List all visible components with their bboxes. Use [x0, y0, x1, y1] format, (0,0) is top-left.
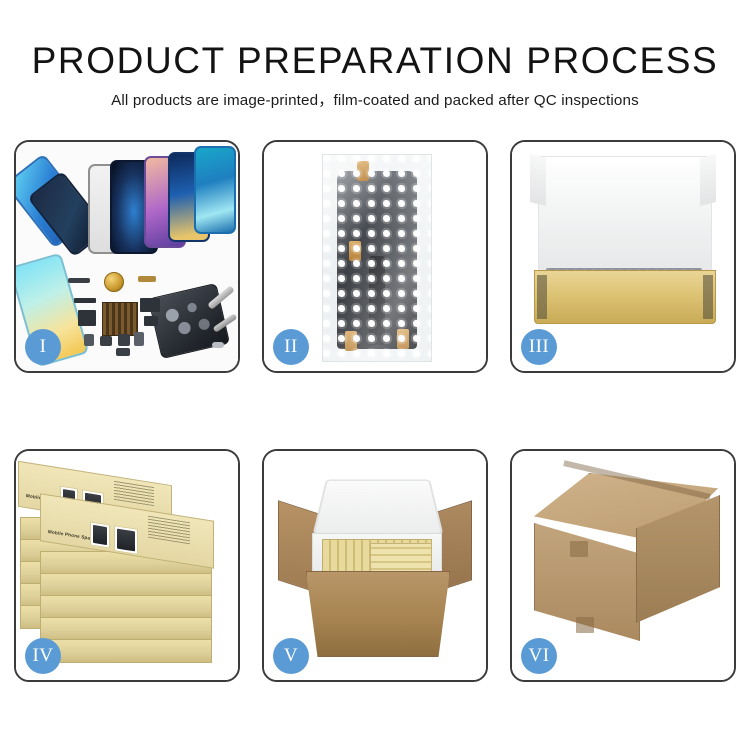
- flex-cable: [74, 298, 96, 303]
- step-badge-6: VI: [521, 638, 557, 674]
- step-badge-2: II: [273, 329, 309, 365]
- page-subtitle: All products are image-printed，film-coat…: [0, 82, 750, 111]
- small-part: [100, 336, 112, 346]
- small-part: [118, 334, 130, 346]
- lid-flap-left: [530, 154, 546, 206]
- lid-flap-right: [700, 154, 716, 206]
- step-badge-4: IV: [25, 638, 61, 674]
- carton-body: [306, 571, 450, 657]
- header: PRODUCT PREPARATION PROCESS All products…: [0, 0, 750, 111]
- process-step-panel-1[interactable]: I: [14, 140, 240, 373]
- tray-end-right: [703, 275, 713, 319]
- tray-end-left: [537, 275, 547, 319]
- product-window: [90, 521, 110, 548]
- process-step-panel-6[interactable]: VI: [510, 449, 736, 682]
- page-title: PRODUCT PREPARATION PROCESS: [0, 0, 750, 82]
- retail-box: [40, 617, 212, 641]
- small-part: [116, 348, 130, 356]
- retail-box: [40, 573, 212, 597]
- connector-array-component: [102, 302, 138, 336]
- speaker-component: [104, 272, 124, 292]
- small-part: [138, 276, 156, 282]
- process-step-panel-2[interactable]: II: [262, 140, 488, 373]
- flex-cable: [78, 310, 96, 326]
- retail-box: [40, 595, 212, 619]
- carton-tape-mark: [576, 617, 594, 633]
- small-part: [68, 278, 90, 283]
- process-step-panel-5[interactable]: V: [262, 449, 488, 682]
- step-badge-3: III: [521, 329, 557, 365]
- process-step-panel-4[interactable]: Mobile Phone Spare Parts Mobile Phone Sp…: [14, 449, 240, 682]
- flex-cable: [140, 298, 160, 312]
- small-part: [134, 332, 144, 346]
- flex-cable: [144, 316, 158, 326]
- white-box-lid: [538, 156, 712, 274]
- lcd-screen-cyan: [194, 146, 236, 234]
- product-window: [114, 525, 138, 555]
- carton-tape-mark: [570, 541, 588, 557]
- bubble-wrap-bag: [322, 154, 432, 362]
- process-step-grid: I II: [14, 140, 736, 682]
- foam-lid: [312, 479, 443, 534]
- process-step-panel-3[interactable]: III: [510, 140, 736, 373]
- plastic-sheen: [323, 155, 431, 361]
- small-part: [84, 334, 94, 346]
- retail-box: [40, 639, 212, 663]
- step-badge-1: I: [25, 329, 61, 365]
- step-badge-5: V: [273, 638, 309, 674]
- small-part: [212, 342, 224, 348]
- kraft-box-tray: [534, 270, 716, 324]
